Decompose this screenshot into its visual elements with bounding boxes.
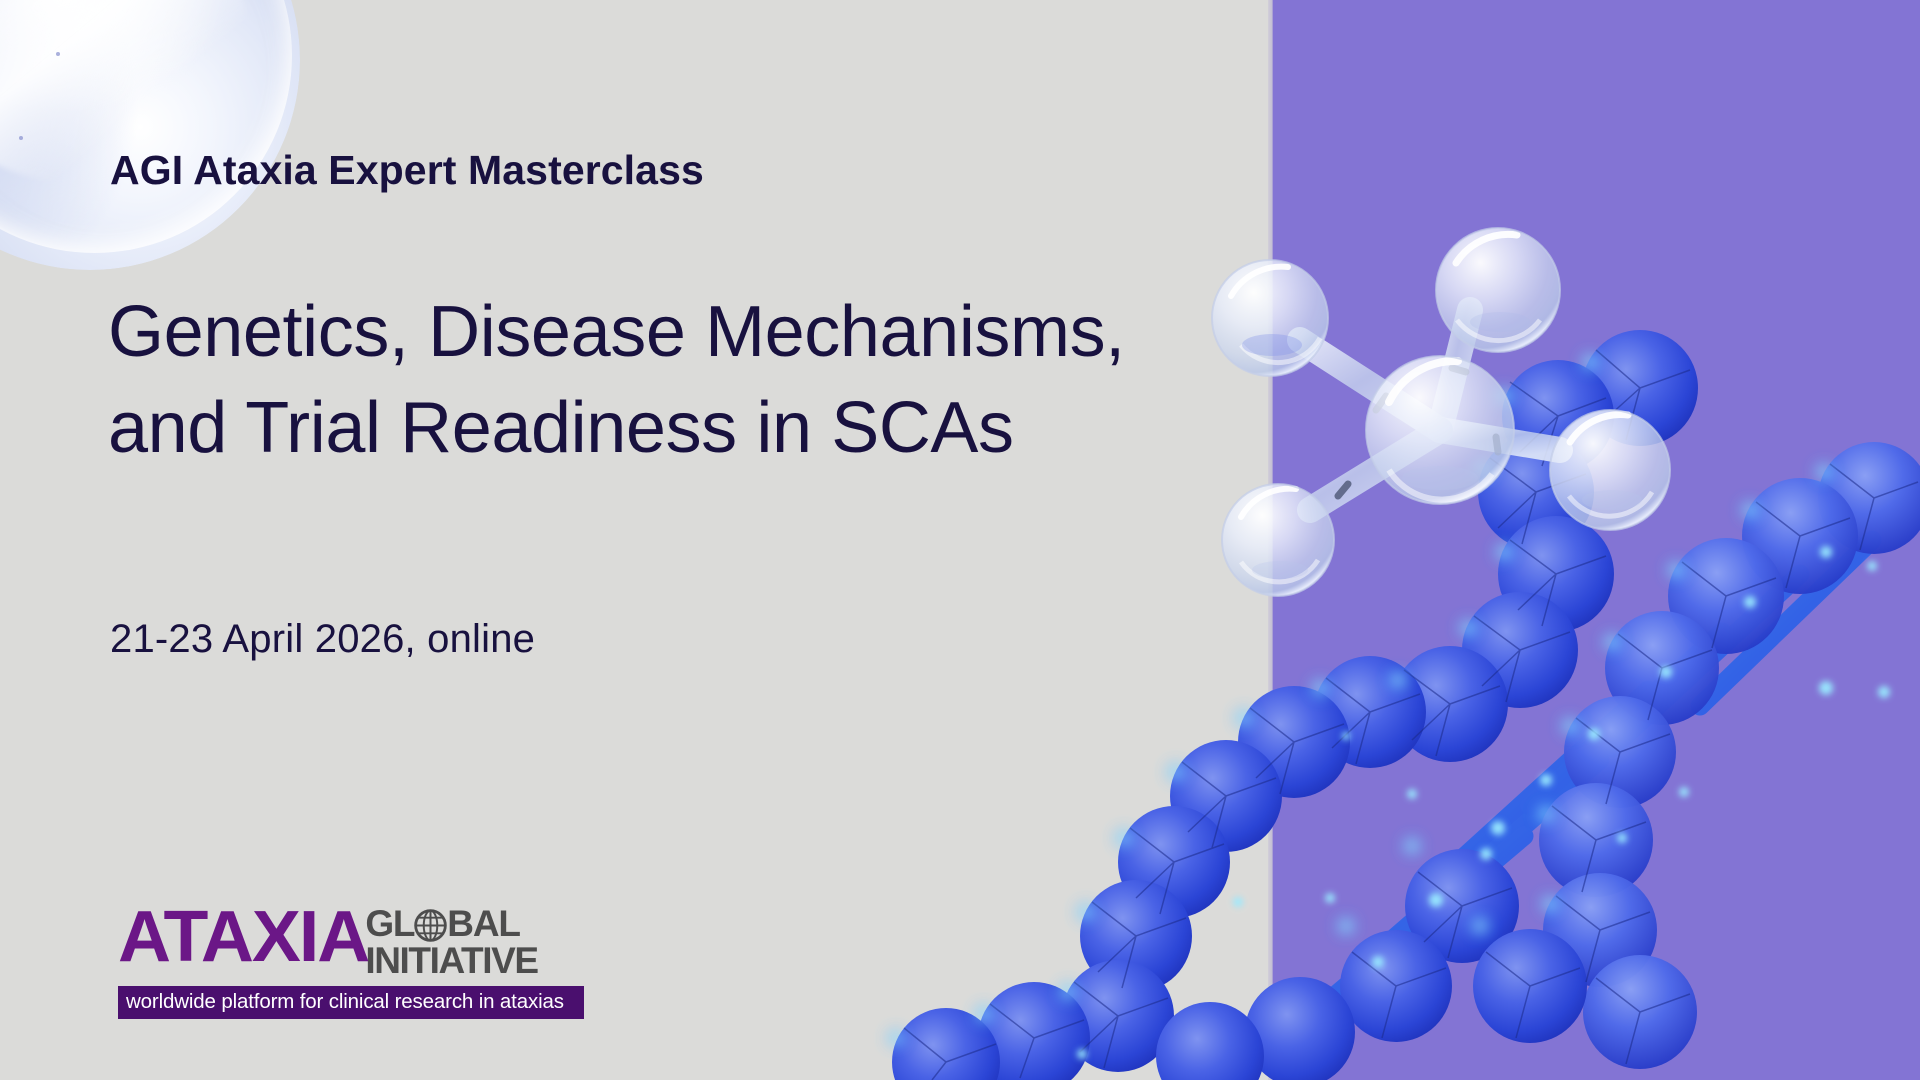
logo-tagline-banner: worldwide platform for clinical research… — [118, 986, 584, 1019]
logo-wordmark-ataxia: ATAXIA — [118, 903, 368, 973]
purple-panel — [1272, 0, 1920, 1080]
logo-word-global: GL BAL — [365, 906, 537, 943]
panel-seam — [1268, 0, 1273, 1080]
page-title-line-1: Genetics, Disease Mechanisms, — [108, 285, 1228, 381]
event-series-label: AGI Ataxia Expert Masterclass — [110, 147, 704, 194]
globe-icon — [414, 909, 447, 942]
event-date-location: 21-23 April 2026, online — [110, 617, 535, 662]
page-title-line-2: and Trial Readiness in SCAs — [108, 381, 1228, 477]
ataxia-global-initiative-logo: ATAXIA GL BAL — [118, 903, 596, 1019]
logo-global-prefix: GL — [365, 907, 414, 941]
page-title: Genetics, Disease Mechanisms, and Trial … — [108, 285, 1228, 477]
liquid-gel-blob — [0, 0, 300, 270]
poster-canvas: AGI Ataxia Expert Masterclass Genetics, … — [0, 0, 1920, 1080]
logo-word-initiative: INITIATIVE — [365, 944, 537, 978]
logo-global-suffix: BAL — [447, 907, 519, 941]
